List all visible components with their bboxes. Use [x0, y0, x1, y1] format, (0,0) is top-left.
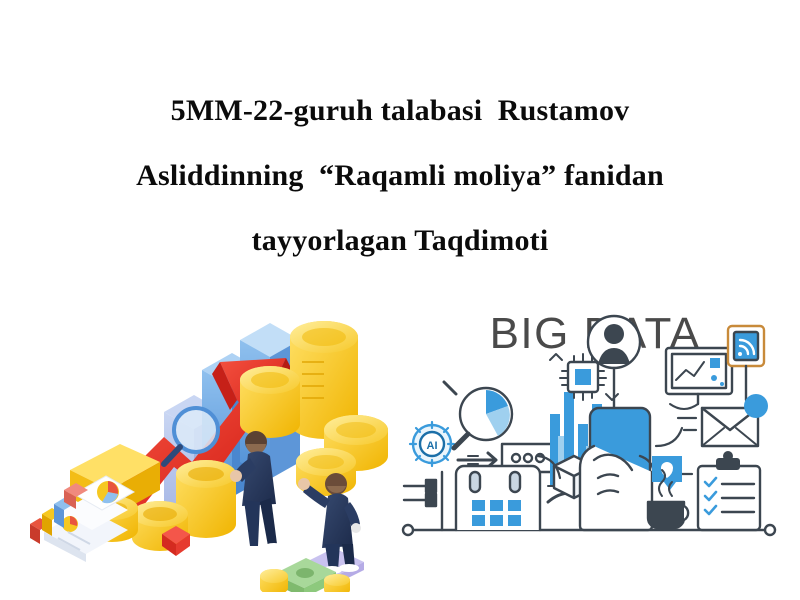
monitor-chart-icon [666, 348, 732, 409]
svg-text:AI: AI [427, 440, 438, 452]
magnifier-pie-chart-icon [444, 382, 512, 448]
big-data-illustration: AI [398, 296, 780, 552]
presentation-slide: 5MM-22-guruh talabasi Rustamov Asliddinn… [0, 0, 800, 600]
hand-holding-phone-icon [580, 408, 654, 530]
server-rack-icon [456, 466, 540, 530]
ai-badge-icon: AI [410, 422, 454, 466]
wifi-signal-icon [728, 326, 764, 400]
plug-icon [404, 472, 442, 530]
title-line-2: Asliddinning “Raqamli moliya” fanidan [55, 143, 745, 208]
location-pin-icon [652, 456, 682, 490]
envelope-icon [678, 394, 768, 446]
financial-growth-illustration [24, 262, 404, 592]
title-line-1: 5MM-22-guruh talabasi Rustamov [55, 78, 745, 143]
clipboard-checklist-icon [698, 451, 760, 530]
page-title: 5MM-22-guruh talabasi Rustamov Asliddinn… [55, 78, 745, 273]
